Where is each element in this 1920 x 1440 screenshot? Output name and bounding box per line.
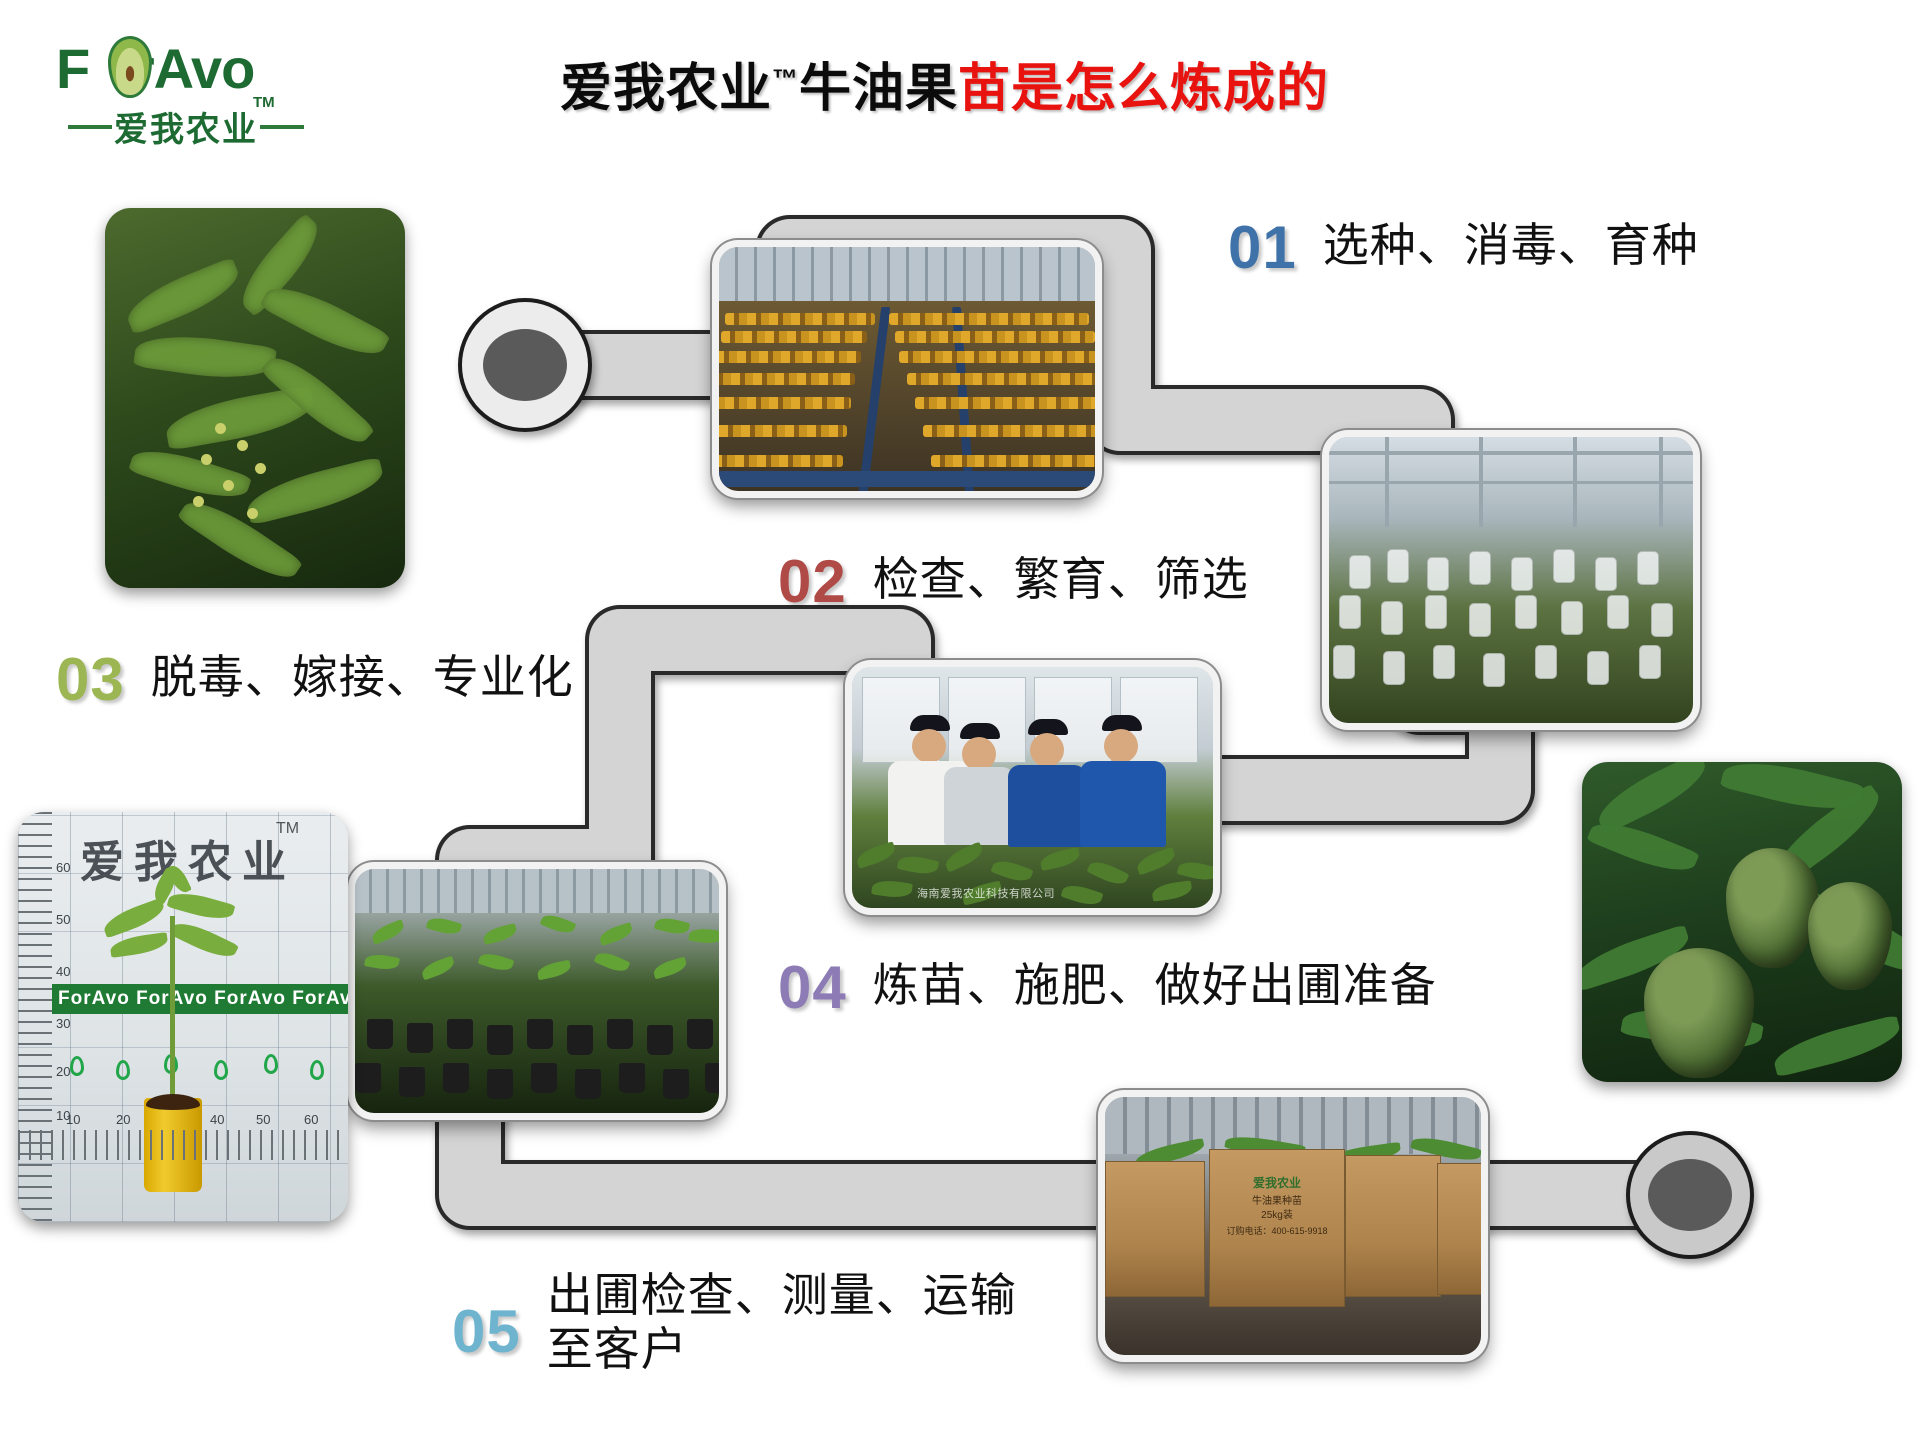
title-part-black2: 牛油果 (799, 60, 958, 118)
step-01-number: 01 (1228, 218, 1297, 278)
carton-brand: 爱我农业 (1221, 1174, 1334, 1191)
logo-rule-right (260, 125, 304, 129)
logo-chinese-name: 爱我农业 (114, 102, 258, 151)
hruler-mark-40: 40 (210, 1112, 224, 1127)
hruler-mark-20: 20 (116, 1112, 130, 1127)
step-04-text: 炼苗、施肥、做好出圃准备 (873, 958, 1437, 1012)
step-04-label: 04 炼苗、施肥、做好出圃准备 (778, 958, 1437, 1018)
vertical-ruler (18, 812, 52, 1222)
step-05-line-2: 至客户 (547, 1322, 1017, 1376)
board-brand-strip: ForAvo ForAvo ForAvo ForAvo (52, 984, 348, 1014)
step-02-label: 02 检查、繁育、筛选 (778, 552, 1249, 612)
path-start-node (460, 300, 590, 430)
step-02-text: 检查、繁育、筛选 (873, 552, 1249, 606)
step-04-line-1: 炼苗、施肥、做好出圃准备 (873, 958, 1437, 1012)
step-03-line-1: 脱毒、嫁接、专业化 (151, 650, 574, 704)
avocado-fruit-on-tree-photo (1582, 762, 1902, 1082)
board-watermark-cn: 爱我农业 (80, 826, 296, 890)
branded-carton: 爱我农业 牛油果种苗 25kg装 订购电话：400-615-9918 (1209, 1149, 1345, 1307)
step-01-label: 01 选种、消毒、育种 (1228, 218, 1699, 278)
board-watermark-tm: TM (276, 820, 299, 838)
ruler-mark-60: 60 (56, 860, 70, 875)
ruler-mark-20: 20 (56, 1064, 70, 1079)
brand-logo: F rAvo 爱我农业 TM (48, 30, 338, 140)
seed-tray-nursery-photo (712, 240, 1102, 498)
step-05-line-1: 出圃检查、测量、运输 (547, 1268, 1017, 1322)
step-01-text: 选种、消毒、育种 (1323, 218, 1699, 272)
step-04-number: 04 (778, 958, 847, 1018)
step-02-line-1: 检查、繁育、筛选 (873, 552, 1249, 606)
page-title: 爱我农业™牛油果苗是怎么炼成的 (560, 46, 1560, 121)
infographic-canvas: F rAvo 爱我农业 TM 爱我农业™牛油果苗是怎么炼成的 (0, 0, 1920, 1440)
title-trademark: ™ (772, 64, 799, 94)
ruler-mark-40: 40 (56, 964, 70, 979)
photo-watermark: 海南爱我农业科技有限公司 (917, 885, 1055, 901)
ruler-mark-50: 50 (56, 912, 70, 927)
logo-wordmark: F rAvo (56, 36, 254, 101)
hruler-mark-10: 10 (66, 1112, 80, 1127)
greenhouse-bagged-plants-photo (1322, 430, 1700, 730)
logo-rule-left (68, 125, 112, 129)
step-02-number: 02 (778, 552, 847, 612)
step-05-label: 05 出圃检查、测量、运输 至客户 (452, 1268, 1017, 1377)
carton-weight: 25kg装 (1221, 1206, 1334, 1221)
step-03-number: 03 (56, 650, 125, 710)
hruler-mark-50: 50 (256, 1112, 270, 1127)
step-01-line-1: 选种、消毒、育种 (1323, 218, 1699, 272)
title-part-red: 苗是怎么炼成的 (958, 60, 1329, 118)
avocado-flowering-branch-photo (105, 208, 405, 588)
logo-trademark: TM (253, 94, 275, 111)
step-03-text: 脱毒、嫁接、专业化 (151, 650, 574, 704)
staff-inspection-photo: 海南爱我农业科技有限公司 (845, 660, 1220, 915)
path-end-node (1628, 1133, 1752, 1257)
title-part-black: 爱我农业 (560, 60, 772, 118)
step-05-text: 出圃检查、测量、运输 至客户 (547, 1268, 1017, 1377)
carton-phone: 订购电话：400-615-9918 (1221, 1224, 1334, 1237)
step-03-label: 03 脱毒、嫁接、专业化 (56, 650, 574, 710)
seedling-measurement-photo: 60 50 40 30 20 10 爱我农业 TM ForAvo ForAvo … (18, 812, 348, 1222)
carton-subtitle: 牛油果种苗 (1221, 1192, 1334, 1207)
step-05-number: 05 (452, 1302, 521, 1362)
potted-seedlings-photo (348, 862, 726, 1120)
shipping-cartons-photo: 爱我农业 牛油果种苗 25kg装 订购电话：400-615-9918 (1098, 1090, 1488, 1362)
hruler-mark-60: 60 (304, 1112, 318, 1127)
ruler-mark-30: 30 (56, 1016, 70, 1031)
